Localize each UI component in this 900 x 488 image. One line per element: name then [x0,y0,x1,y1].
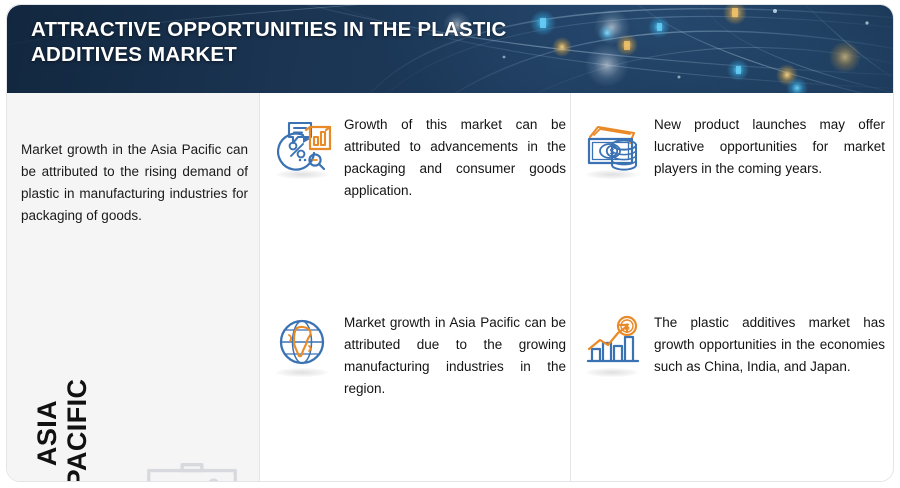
info-cell: Market growth in Asia Pacific can be att… [270,309,566,400]
info-cell: $ New product launches may offer luc [580,111,885,180]
info-cell-text: Market growth in Asia Pacific can be att… [344,309,566,400]
column-divider [570,93,571,482]
info-cell: $ The plastic additives market has growt… [580,309,885,378]
page-title: Attractive Opportunities in the Plastic … [31,17,591,67]
region-label: ASIA PACIFIC [32,338,92,482]
growth-chart-dollar-icon: $ [580,311,644,375]
icon-shadow [586,368,638,377]
infographic-card: Attractive Opportunities in the Plastic … [6,4,894,482]
market-analysis-icon [270,113,334,177]
region-panel: Market growth in the Asia Pacific can be… [7,93,260,482]
globe-icon [270,311,334,375]
info-cell-text: The plastic additives market has growth … [654,309,885,378]
info-cell-text: New product launches may offer lucrative… [654,111,885,180]
body-area: Market growth in the Asia Pacific can be… [7,93,894,482]
infographic-root: Attractive Opportunities in the Plastic … [0,0,900,488]
header-banner: Attractive Opportunities in the Plastic … [7,5,894,93]
content-grid: Growth of this market can be attributed … [260,93,894,482]
money-coins-icon: $ [580,113,644,177]
info-cell: Growth of this market can be attributed … [270,111,566,202]
info-cell-text: Growth of this market can be attributed … [344,111,566,202]
region-intro-text: Market growth in the Asia Pacific can be… [21,139,248,227]
presentation-chart-magnifier-icon [133,445,251,482]
icon-shadow [276,170,328,179]
svg-text:$: $ [624,322,630,333]
icon-shadow [586,170,638,179]
icon-shadow [276,368,328,377]
